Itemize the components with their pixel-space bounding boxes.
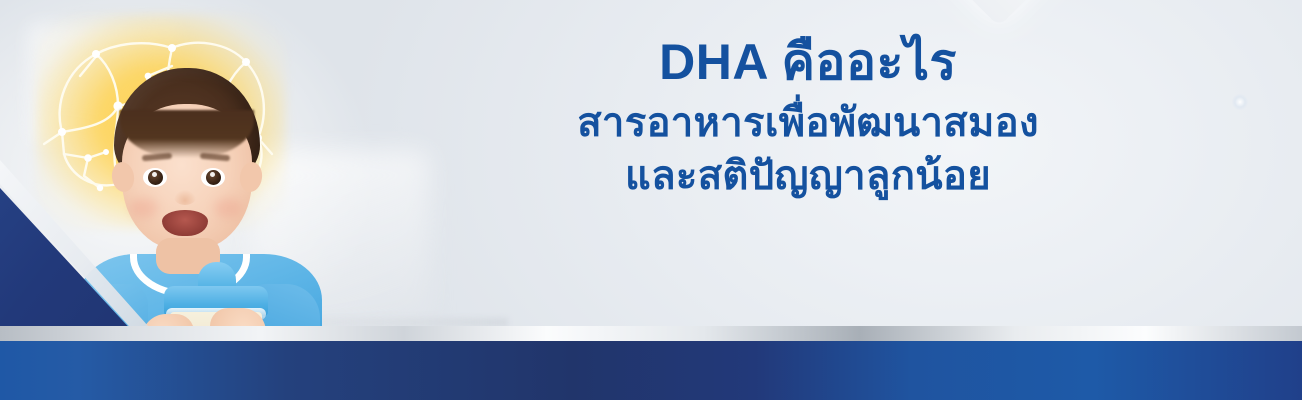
banner-copy: DHA คืออะไร สารอาหารเพื่อพัฒนาสมอง และสต…: [470, 34, 1146, 203]
navy-bottom-band: [0, 341, 1302, 400]
page-title: DHA คืออะไร: [470, 34, 1146, 91]
child-eye-right: [201, 168, 225, 187]
child-nose: [174, 190, 196, 205]
child-cheek-left: [130, 198, 158, 218]
light-glint-decoration: [1232, 94, 1248, 110]
child-mouth: [162, 210, 208, 236]
dha-promo-banner: smart+ DHA คืออะไร สารอาหารเพื่อพัฒนาสมอ…: [0, 0, 1302, 400]
subtitle-line-2: และสติปัญญาลูกน้อย: [470, 150, 1146, 203]
subtitle-line-1: สารอาหารเพื่อพัฒนาสมอง: [470, 97, 1146, 150]
child-eye-left: [143, 168, 167, 187]
child-cheek-right: [214, 198, 242, 218]
silver-divider-bar: [0, 326, 1302, 341]
